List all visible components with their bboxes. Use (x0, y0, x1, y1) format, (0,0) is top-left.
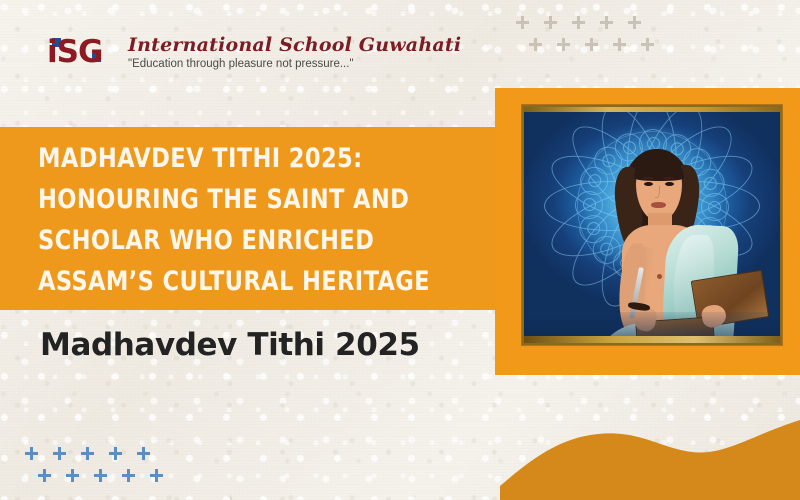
illustration-frame (522, 105, 782, 345)
plus-icon (557, 38, 570, 51)
poster-canvas: iSG International School Guwahati "Educa… (0, 0, 800, 500)
figure-eyebrow-right (663, 177, 675, 180)
plus-icon (572, 16, 585, 29)
plus-icon (38, 469, 51, 482)
figure-eye-right (665, 182, 674, 186)
saint-figure-illustration (524, 107, 780, 343)
isg-monogram-text: iSG (47, 35, 102, 69)
illustration-panel (495, 88, 800, 375)
plus-icon (600, 16, 613, 29)
plus-icon (628, 16, 641, 29)
page-title: MADHAVDEV TITHI 2025: HONOURING THE SAIN… (38, 138, 447, 302)
illustration-foot-band (524, 312, 780, 336)
plus-icon (25, 447, 38, 460)
isg-monogram-icon: iSG (47, 36, 121, 70)
plus-row (516, 16, 669, 29)
plus-icon (109, 447, 122, 460)
plus-icon (529, 38, 542, 51)
wave-shape (500, 420, 800, 500)
figure-torso-detail (657, 274, 662, 279)
headline-line-2: HONOURING THE SAINT AND (38, 179, 447, 220)
page-subtitle: Madhavdev Tithi 2025 (40, 327, 420, 363)
school-logo: iSG International School Guwahati "Educa… (47, 36, 461, 71)
figure-eyebrow-left (642, 177, 654, 180)
plus-icon (94, 469, 107, 482)
headline-line-1: MADHAVDEV TITHI 2025: (38, 138, 447, 179)
logo-wordmark: International School Guwahati "Education… (128, 36, 461, 71)
plus-icon (150, 469, 163, 482)
frame-gold-top (524, 107, 780, 112)
headline-line-4: ASSAM’S CULTURAL HERITAGE (38, 261, 447, 302)
plus-icon (613, 38, 626, 51)
plus-icon (585, 38, 598, 51)
plus-icon (122, 469, 135, 482)
figure-mouth (651, 202, 666, 208)
plus-decoration-bottom-left (25, 447, 178, 482)
plus-icon (641, 38, 654, 51)
plus-row (529, 38, 669, 51)
wave-decoration (500, 390, 800, 500)
plus-icon (137, 447, 150, 460)
plus-icon (81, 447, 94, 460)
plus-row (25, 447, 178, 460)
headline-line-3: SCHOLAR WHO ENRICHED (38, 220, 447, 261)
plus-icon (544, 16, 557, 29)
plus-icon (516, 16, 529, 29)
school-tagline: "Education through pleasure not pressure… (128, 59, 461, 71)
figure-eye-left (644, 182, 653, 186)
school-name: International School Guwahati (128, 36, 461, 55)
plus-icon (53, 447, 66, 460)
frame-gold-bottom (524, 336, 780, 343)
plus-decoration-top-right (516, 16, 669, 51)
plus-icon (66, 469, 79, 482)
plus-row (38, 469, 178, 482)
